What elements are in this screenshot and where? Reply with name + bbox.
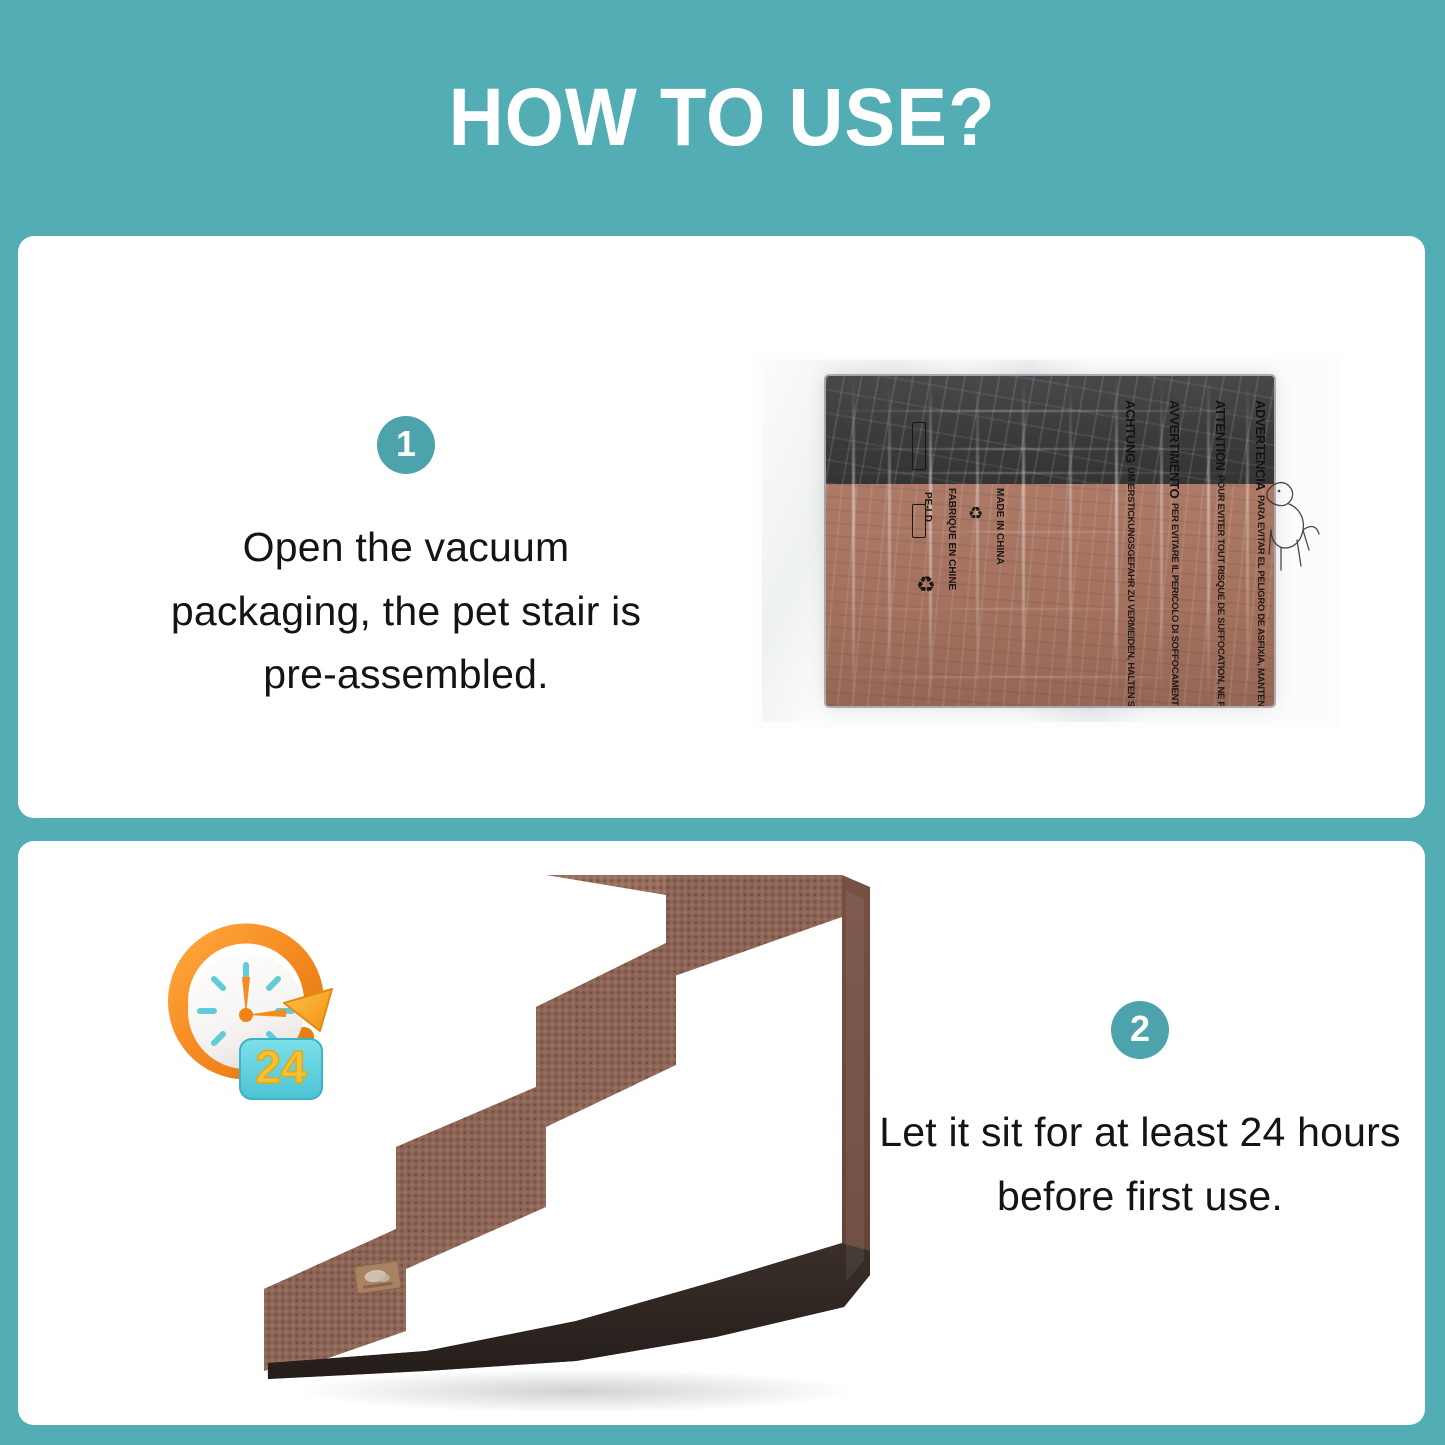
recycle-icon: ♻ — [968, 504, 983, 524]
wrinkle-streak — [1160, 384, 1163, 698]
wrinkle-streak — [888, 386, 891, 696]
warning-body-fr: POUR EVITER TOUT RISQUE DE SUFFOCATION, … — [1215, 475, 1226, 706]
vacuum-packaged-pet-stair-photo: ADVERTENCIA PARA EVITAR EL PELIGRO DE AS… — [754, 354, 1339, 728]
step-2-description: Let it sit for at least 24 hours before … — [873, 1101, 1407, 1228]
page-title: HOW TO USE? — [449, 77, 996, 159]
step-2-number-badge: 2 — [1111, 1001, 1169, 1059]
wrinkle-streak — [1246, 380, 1249, 702]
step-1-description: Open the vacuum packaging, the pet stair… — [138, 516, 674, 707]
step-2-card: 24 — [18, 841, 1425, 1425]
wrinkle-streak — [1069, 382, 1072, 700]
side-panel-highlight — [846, 891, 864, 1281]
wrinkle-streak — [826, 531, 1274, 533]
wrinkle-streak — [826, 676, 1274, 678]
wrinkle-streak — [852, 376, 855, 706]
dog-outline-icon — [1259, 474, 1329, 594]
origin-text-fr: FABRIQUE EN CHINE — [946, 488, 957, 590]
origin-text-en: MADE IN CHINA — [994, 488, 1005, 565]
wrinkle-streak — [826, 608, 1274, 610]
warning-block-it: AVVERTIMENTO PER EVITARE IL PERICOLO DI … — [1166, 400, 1182, 690]
pet-stair-product-photo — [246, 851, 886, 1419]
page-header: HOW TO USE? — [0, 0, 1445, 236]
step-1-number-badge: 1 — [377, 416, 435, 474]
print-mark-icon — [912, 504, 926, 538]
wrinkle-streak — [826, 448, 1274, 450]
brand-label-tag — [354, 1261, 401, 1294]
print-mark-icon — [912, 422, 926, 470]
warning-body-it: PER EVITARE IL PERICOLO DI SOFFOCAMENTO,… — [1169, 503, 1180, 706]
warning-body-de: UM ERSTICKUNGSGEFAHR ZU VERMEIDEN, HALTE… — [1125, 467, 1136, 706]
wrinkle-streak — [1115, 376, 1118, 706]
wrinkle-streak — [1022, 376, 1025, 706]
warning-block-fr: ATTENTION POUR EVITER TOUT RISQUE DE SUF… — [1212, 400, 1228, 690]
wrinkle-streak — [826, 472, 1274, 474]
recycle-icon: ♻ — [916, 572, 936, 598]
warning-heading-de: ACHTUNG — [1123, 400, 1138, 463]
wrinkle-streak — [1207, 376, 1210, 706]
step-1-card: 1 Open the vacuum packaging, the pet sta… — [18, 236, 1425, 818]
wrinkle-streak — [976, 380, 979, 700]
step-1-text-block: 1 Open the vacuum packaging, the pet sta… — [138, 416, 674, 707]
wrinkle-streak — [826, 410, 1274, 412]
step-2-text-block: 2 Let it sit for at least 24 hours befor… — [873, 1001, 1407, 1228]
product-shadow — [296, 1369, 856, 1413]
warning-heading-it: AVVERTIMENTO — [1167, 400, 1182, 498]
compressed-foam-block: ADVERTENCIA PARA EVITAR EL PELIGRO DE AS… — [826, 376, 1274, 706]
warning-block-de: ACHTUNG UM ERSTICKUNGSGEFAHR ZU VERMEIDE… — [1122, 400, 1138, 690]
wrinkle-streak — [929, 376, 932, 706]
warning-heading-fr: ATTENTION — [1213, 400, 1228, 471]
